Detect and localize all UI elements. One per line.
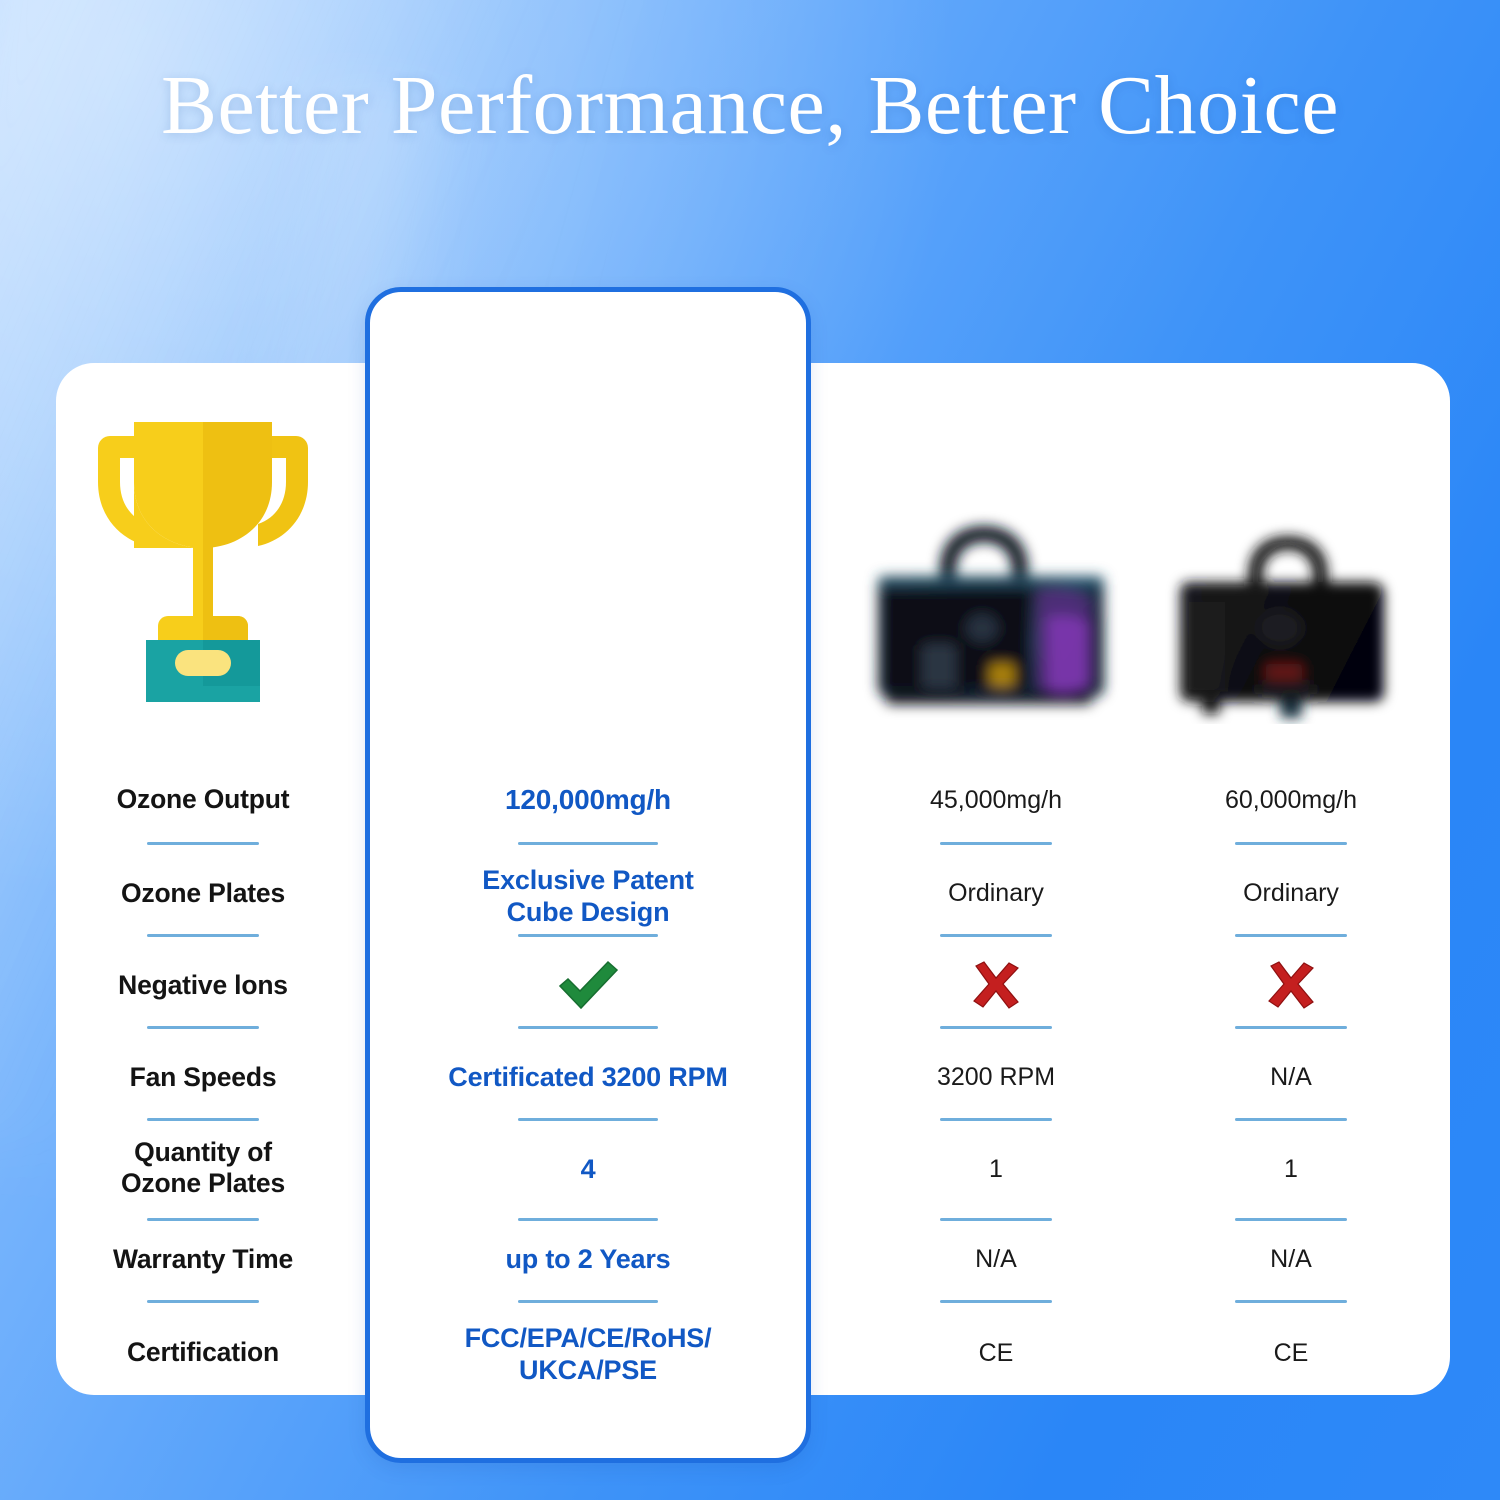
feature-label-5: Warranty Time bbox=[58, 1244, 348, 1275]
competitor-c-value-6: CE bbox=[1155, 1338, 1427, 1368]
featured-value-3: Certificated 3200 RPM bbox=[372, 1062, 804, 1094]
compc-divider-3 bbox=[1235, 1118, 1347, 1121]
row-featured-0: 120,000mg/h bbox=[372, 772, 804, 828]
row-compb-0: 45,000mg/h bbox=[860, 775, 1132, 825]
divider-5 bbox=[147, 1300, 259, 1303]
feature-label-3: Fan Speeds bbox=[58, 1062, 348, 1093]
row-featured-4: 4 bbox=[372, 1142, 804, 1198]
row-featured-6: FCC/EPA/CE/RoHS/UKCA/PSE bbox=[372, 1316, 804, 1394]
feature-label-0: Ozone Output bbox=[58, 784, 348, 815]
compb-divider-4 bbox=[940, 1218, 1052, 1221]
featured-divider-5 bbox=[518, 1300, 658, 1303]
row-compb-2 bbox=[860, 952, 1132, 1020]
row-label-2: Negative lons bbox=[58, 958, 348, 1014]
compc-divider-2 bbox=[1235, 1026, 1347, 1029]
row-compc-6: CE bbox=[1155, 1328, 1427, 1378]
featured-divider-3 bbox=[518, 1118, 658, 1121]
compb-divider-0 bbox=[940, 842, 1052, 845]
competitor-b-value-3: 3200 RPM bbox=[860, 1062, 1132, 1092]
competitor-b-value-0: 45,000mg/h bbox=[860, 785, 1132, 815]
featured-value-5: up to 2 Years bbox=[372, 1244, 804, 1276]
feature-label-1: Ozone Plates bbox=[58, 878, 348, 909]
compb-divider-3 bbox=[940, 1118, 1052, 1121]
row-featured-5: up to 2 Years bbox=[372, 1232, 804, 1288]
row-compc-0: 60,000mg/h bbox=[1155, 775, 1427, 825]
row-compb-5: N/A bbox=[860, 1234, 1132, 1284]
row-compc-4: 1 bbox=[1155, 1144, 1427, 1194]
row-label-5: Warranty Time bbox=[58, 1232, 348, 1288]
check-icon bbox=[553, 957, 623, 1015]
competitor-c-value-1: Ordinary bbox=[1155, 878, 1427, 908]
comparison-grid: Ozone Output Ozone Plates Negative lons … bbox=[0, 0, 1500, 1500]
competitor-c-value-3: N/A bbox=[1155, 1062, 1427, 1092]
compb-divider-1 bbox=[940, 934, 1052, 937]
row-compb-3: 3200 RPM bbox=[860, 1052, 1132, 1102]
compb-divider-2 bbox=[940, 1026, 1052, 1029]
row-label-0: Ozone Output bbox=[58, 772, 348, 828]
featured-divider-1 bbox=[518, 934, 658, 937]
divider-0 bbox=[147, 842, 259, 845]
compc-divider-1 bbox=[1235, 934, 1347, 937]
featured-value-6: FCC/EPA/CE/RoHS/UKCA/PSE bbox=[372, 1323, 804, 1387]
row-compc-2 bbox=[1155, 952, 1427, 1020]
featured-value-4: 4 bbox=[372, 1154, 804, 1186]
featured-divider-2 bbox=[518, 1026, 658, 1029]
row-compc-1: Ordinary bbox=[1155, 868, 1427, 918]
competitor-b-value-4: 1 bbox=[860, 1154, 1132, 1184]
feature-label-4: Quantity ofOzone Plates bbox=[58, 1137, 348, 1200]
row-compc-5: N/A bbox=[1155, 1234, 1427, 1284]
competitor-b-value-6: CE bbox=[860, 1338, 1132, 1368]
row-label-4: Quantity ofOzone Plates bbox=[58, 1132, 348, 1204]
row-featured-3: Certificated 3200 RPM bbox=[372, 1050, 804, 1106]
competitor-b-value-5: N/A bbox=[860, 1244, 1132, 1274]
row-compb-6: CE bbox=[860, 1328, 1132, 1378]
divider-3 bbox=[147, 1118, 259, 1121]
row-label-3: Fan Speeds bbox=[58, 1050, 348, 1106]
feature-label-6: Certification bbox=[58, 1337, 348, 1368]
featured-divider-0 bbox=[518, 842, 658, 845]
divider-1 bbox=[147, 934, 259, 937]
compc-divider-5 bbox=[1235, 1300, 1347, 1303]
featured-value-0: 120,000mg/h bbox=[372, 783, 804, 816]
row-label-6: Certification bbox=[58, 1325, 348, 1381]
divider-2 bbox=[147, 1026, 259, 1029]
competitor-c-value-5: N/A bbox=[1155, 1244, 1427, 1274]
featured-divider-4 bbox=[518, 1218, 658, 1221]
cross-icon bbox=[1263, 960, 1319, 1012]
compb-divider-5 bbox=[940, 1300, 1052, 1303]
cross-icon bbox=[968, 960, 1024, 1012]
compc-divider-0 bbox=[1235, 842, 1347, 845]
row-compb-1: Ordinary bbox=[860, 868, 1132, 918]
compc-divider-4 bbox=[1235, 1218, 1347, 1221]
competitor-c-value-0: 60,000mg/h bbox=[1155, 785, 1427, 815]
row-compc-3: N/A bbox=[1155, 1052, 1427, 1102]
competitor-c-value-4: 1 bbox=[1155, 1154, 1427, 1184]
row-compb-4: 1 bbox=[860, 1144, 1132, 1194]
row-featured-1: Exclusive PatentCube Design bbox=[372, 858, 804, 936]
feature-label-2: Negative lons bbox=[58, 970, 348, 1001]
row-featured-2 bbox=[372, 952, 804, 1020]
divider-4 bbox=[147, 1218, 259, 1221]
competitor-b-value-1: Ordinary bbox=[860, 878, 1132, 908]
row-label-1: Ozone Plates bbox=[58, 866, 348, 922]
featured-value-1: Exclusive PatentCube Design bbox=[372, 865, 804, 929]
